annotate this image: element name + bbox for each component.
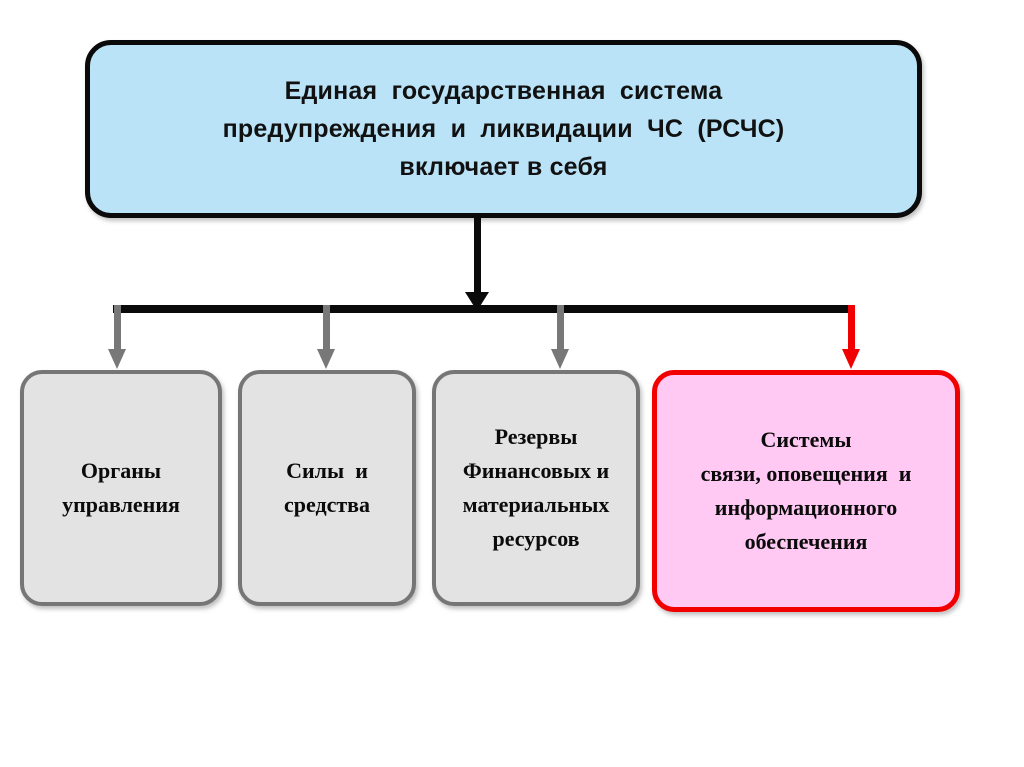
- arrowhead-down-icon: [108, 349, 126, 369]
- root-connector-shaft: [474, 218, 481, 301]
- root-node-line-2: предупреждения и ликвидации ЧС (РСЧС): [223, 110, 785, 148]
- node-line-3: материальных: [463, 488, 610, 522]
- connector-shaft: [114, 305, 121, 354]
- node-sistemy-svyazi: Системы связи, оповещения и информационн…: [652, 370, 960, 612]
- node-line-1: Силы и: [286, 454, 368, 488]
- node-line-3: информационного: [715, 491, 897, 525]
- node-line-4: ресурсов: [492, 522, 579, 556]
- connector-shaft: [557, 305, 564, 354]
- arrowhead-down-icon: [842, 349, 860, 369]
- root-node-line-1: Единая государственная система: [285, 72, 723, 110]
- node-line-4: обеспечения: [745, 525, 868, 559]
- node-rezervy-resursov: Резервы Финансовых и материальных ресурс…: [432, 370, 640, 606]
- node-line-2: связи, оповещения и: [701, 457, 912, 491]
- arrowhead-down-icon: [551, 349, 569, 369]
- node-line-2: средства: [284, 488, 370, 522]
- node-line-1: Системы: [760, 423, 851, 457]
- branch-bar: [113, 305, 855, 313]
- root-node-line-3: включает в себя: [399, 148, 607, 186]
- node-line-1: Органы: [81, 454, 161, 488]
- root-node-rschs: Единая государственная система предупреж…: [85, 40, 922, 218]
- node-sily-i-sredstva: Силы и средства: [238, 370, 416, 606]
- connector-shaft: [848, 305, 855, 354]
- diagram-canvas: Единая государственная система предупреж…: [0, 0, 1024, 767]
- arrowhead-down-icon: [317, 349, 335, 369]
- node-line-2: управления: [62, 488, 180, 522]
- node-organy-upravleniya: Органы управления: [20, 370, 222, 606]
- node-line-2: Финансовых и: [463, 454, 609, 488]
- node-line-1: Резервы: [495, 420, 578, 454]
- connector-shaft: [323, 305, 330, 354]
